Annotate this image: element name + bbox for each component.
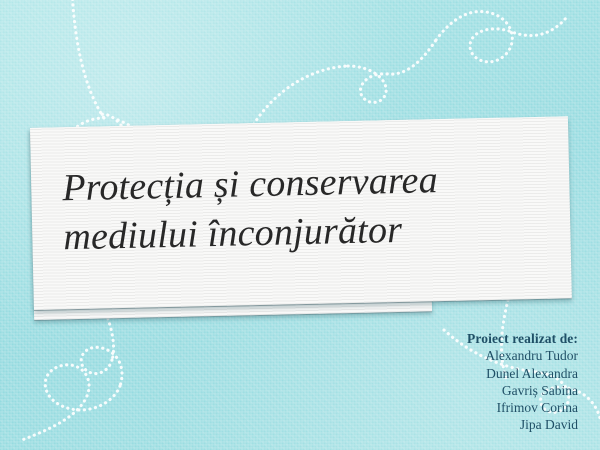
credit-name-1: Alexandru Tudor: [467, 347, 578, 364]
swirl-path-top-left-stem: [72, 0, 104, 118]
credits-block: Proiect realizat de: Alexandru Tudor Dun…: [467, 330, 578, 434]
credit-name-5: Jipa David: [467, 416, 578, 433]
title-container: Protecția și conservarea mediului înconj…: [30, 116, 572, 310]
credit-name-2: Dunel Alexandra: [467, 365, 578, 382]
slide-title: Protecția și conservarea mediului înconj…: [62, 154, 537, 263]
swirl-loop-lower-left-b: [22, 365, 120, 440]
swirl-loop-upper-middle-a: [348, 40, 436, 102]
credit-name-4: Ifrimov Corina: [467, 399, 578, 416]
credit-name-3: Gavriș Sabina: [467, 382, 578, 399]
swirl-loop-lower-left-a: [81, 347, 122, 386]
credits-heading: Proiect realizat de:: [467, 330, 578, 347]
presentation-slide: Protecția și conservarea mediului înconj…: [0, 0, 600, 450]
swirl-loop-upper-middle-b: [436, 12, 566, 62]
